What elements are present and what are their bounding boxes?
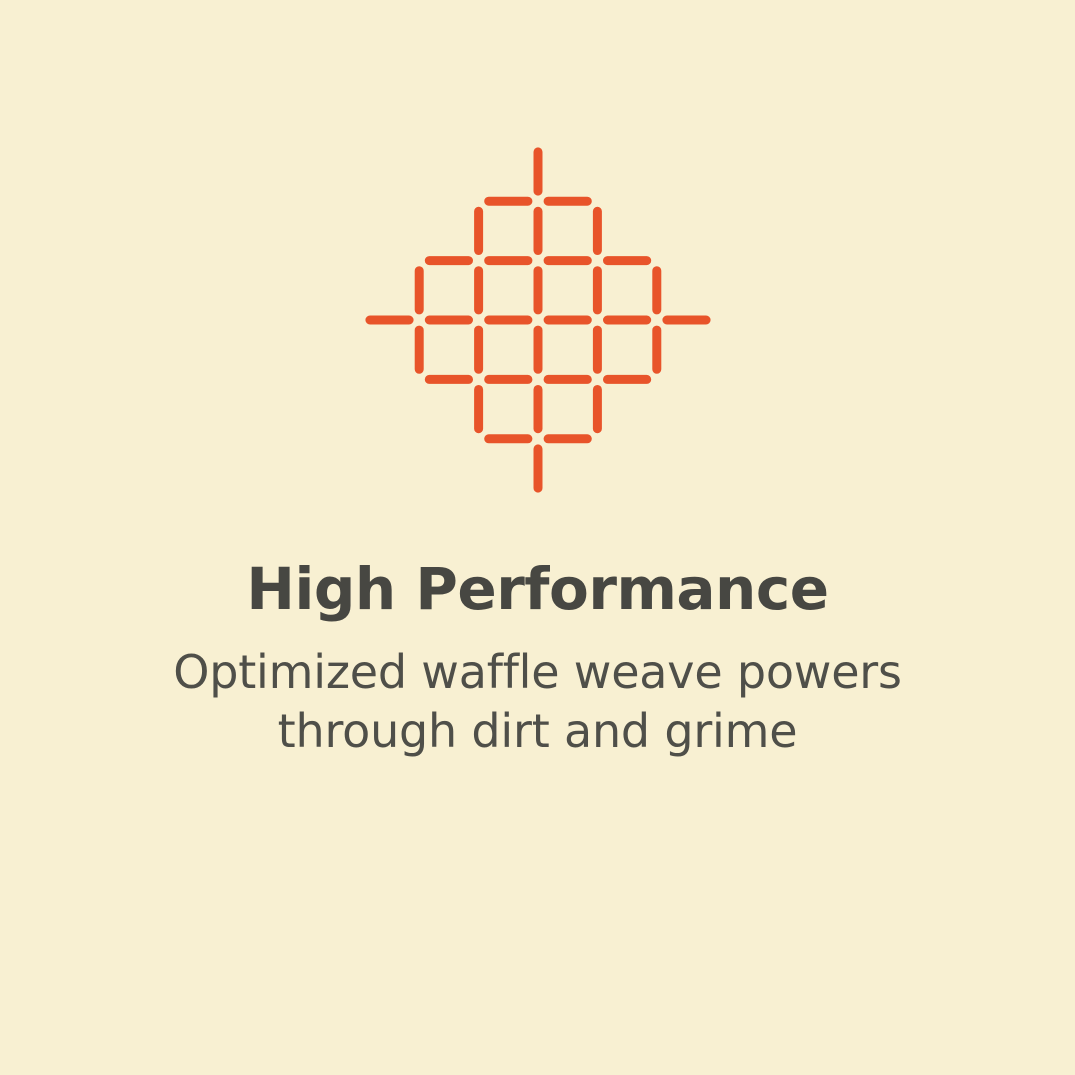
page-subtitle: Optimized waffle weave powers through di… <box>0 623 1075 763</box>
feature-card: High Performance Optimized waffle weave … <box>0 0 1075 1075</box>
icon-container <box>0 130 1075 510</box>
page-title: High Performance <box>0 556 1075 623</box>
subtitle-line-1: Optimized waffle weave powers <box>0 643 1075 703</box>
subtitle-line-2: through dirt and grime <box>0 702 1075 762</box>
waffle-weave-icon <box>358 140 718 500</box>
text-block: High Performance Optimized waffle weave … <box>0 556 1075 762</box>
